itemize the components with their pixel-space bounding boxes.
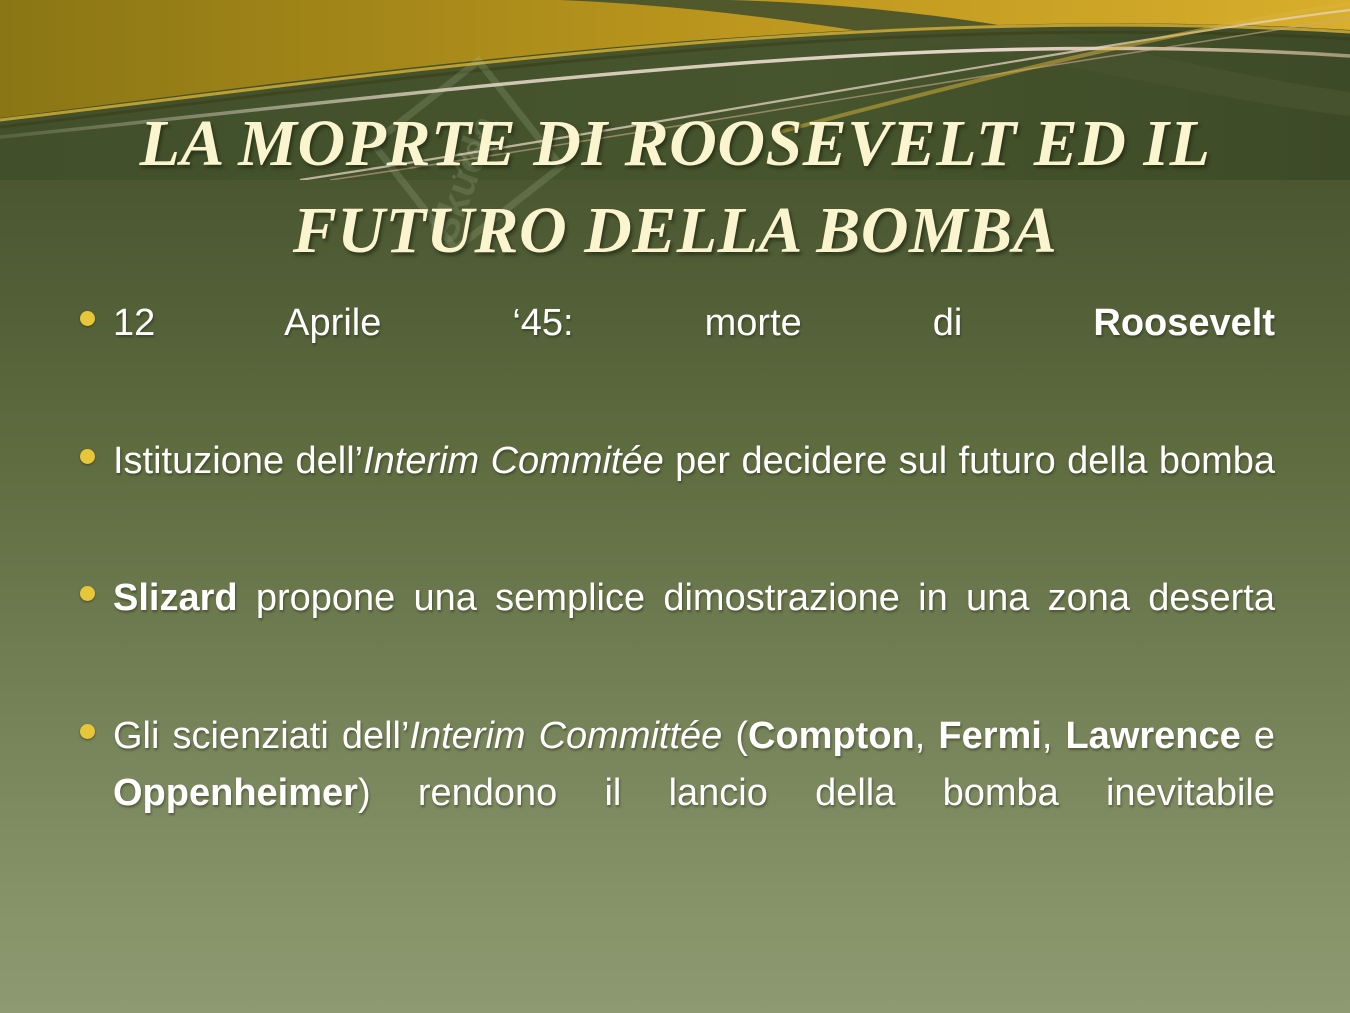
list-item: Istituzione dell’Interim Commitée per de… [80,433,1275,549]
bullet-dot-icon [80,586,95,601]
green-ribbon-upper [560,0,1350,116]
bullet-text-3: Slizard propone una semplice dimostrazio… [113,570,1275,686]
list-item: 12 Aprile ‘45: morte di Roosevelt [80,295,1275,411]
list-item: Gli scienziati dell’Interim Committée (C… [80,708,1275,881]
bullet-text-4: Gli scienziati dell’Interim Committée (C… [113,708,1275,881]
list-item: Slizard propone una semplice dimostrazio… [80,570,1275,686]
slide-title: LA MOPRTE DI ROOSEVELT ED IL FUTURO DELL… [55,100,1295,274]
bullet-dot-icon [80,311,95,326]
bullet-dot-icon [80,449,95,464]
bullet-text-1: 12 Aprile ‘45: morte di Roosevelt [113,295,1275,411]
slide-body: 12 Aprile ‘45: morte di Roosevelt Istitu… [80,295,1275,903]
bullet-dot-icon [80,724,95,739]
presentation-slide: .net Skuola LA MOPRTE DI ROOSEVELT ED IL… [0,0,1350,1013]
bullet-text-2: Istituzione dell’Interim Commitée per de… [113,433,1275,549]
